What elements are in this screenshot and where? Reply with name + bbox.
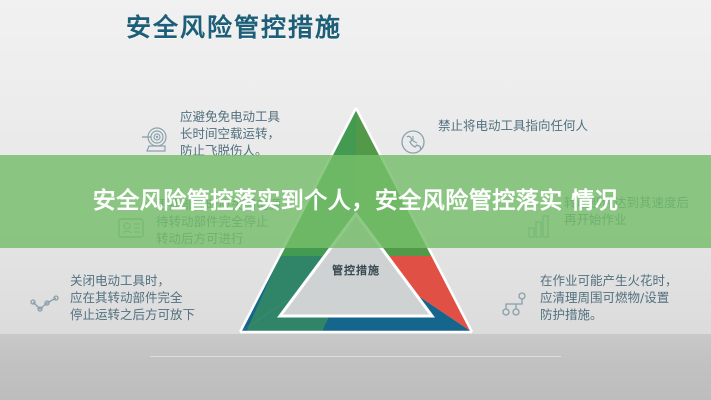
page-title: 安全风险管控措施 [126,8,342,44]
triangle-center-label: 管控措施 [236,262,476,278]
screenshot-root: 安全风险管控措施 管控措施 [0,0,711,400]
caption-line-2: 情况 [571,188,618,214]
line-chart-icon [30,272,60,302]
callout-text: 应避免免电动工具 长时间空载运转， 防止飞脱伤人。 [180,108,280,159]
node-network-icon [500,272,530,302]
bottom-grey-band [0,334,711,400]
callout-put-down-after-stop: 关闭电动工具时， 应在其转动部件完全 停止运转之后方可放下 [30,272,260,323]
target-icon [140,108,170,138]
callout-text: 关闭电动工具时， 应在其转动部件完全 停止运转之后方可放下 [70,272,195,323]
band-divider-line [150,356,561,357]
callout-text: 禁止将电动工具指向任何人 [438,117,588,134]
callout-text: 在作业可能产生火花时， 应清理周围可燃物/设置 防护措施。 [540,272,678,323]
caption-overlay-band: 安全风险管控落实到个人，安全风险管控落实 情况 [0,155,711,248]
callout-never-point-at-people: 禁止将电动工具指向任何人 [398,110,648,140]
callout-avoid-idle-running: 应避免免电动工具 长时间空载运转， 防止飞脱伤人。 [140,108,335,159]
caption-line-1: 安全风险管控落实到个人，安全风险管控落实 [93,188,563,214]
caption-text: 安全风险管控落实到个人，安全风险管控落实 情况 [36,185,676,218]
no-phone-icon [398,110,428,140]
callout-clear-flammables-for-sparks: 在作业可能产生火花时， 应清理周围可燃物/设置 防护措施。 [500,272,705,323]
